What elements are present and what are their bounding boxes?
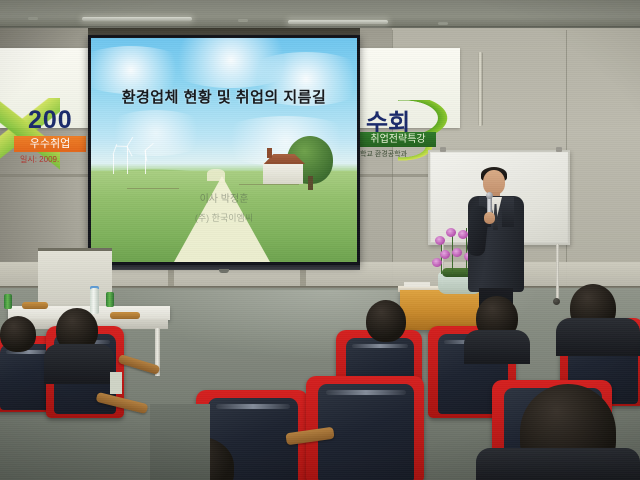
banner-green-badge: 취업전략특강 xyxy=(360,132,436,147)
ceiling-light-fixture xyxy=(288,20,388,24)
ceiling-light-fixture xyxy=(82,17,192,21)
wall-pipe xyxy=(478,52,483,126)
fence-line xyxy=(239,184,299,185)
house-chimney xyxy=(267,148,272,158)
fence-line xyxy=(127,188,179,189)
drink-can[interactable] xyxy=(4,294,12,309)
slide-title: 환경업체 현황 및 취업의 지름길 xyxy=(91,86,357,107)
orchid-bloom xyxy=(458,230,468,239)
snack-plate xyxy=(110,312,140,319)
slide-company: (주) 한국이엠씨 xyxy=(91,211,357,224)
papers-on-podium xyxy=(404,282,430,287)
microphone-head xyxy=(486,192,493,199)
audience-head xyxy=(366,300,406,342)
banner-year-text: 200 xyxy=(28,106,73,135)
slide-presenter: 이사 박정훈 xyxy=(91,190,357,205)
drink-can[interactable] xyxy=(106,292,114,307)
cloud xyxy=(101,110,211,156)
seat-highlight xyxy=(216,404,290,409)
projection-screen: 환경업체 현황 및 취업의 지름길 이사 박정훈 (주) 한국이엠씨 xyxy=(91,38,357,262)
audience-head xyxy=(0,316,36,352)
whiteboard-clip xyxy=(440,147,446,152)
whiteboard-clip xyxy=(556,147,562,152)
orchid-bloom xyxy=(440,250,450,259)
orchid-bloom xyxy=(435,236,445,245)
banner-orange-badge: 우수취업 xyxy=(14,136,86,152)
whiteboard-leg xyxy=(556,244,559,300)
water-bottle[interactable] xyxy=(90,288,99,314)
audience-shoulders xyxy=(44,344,114,384)
orchid-bloom xyxy=(452,248,462,257)
seat-highlight xyxy=(326,390,406,395)
ceiling-light-small xyxy=(438,22,448,25)
audience-shoulders-front xyxy=(476,448,640,480)
audience-shoulders xyxy=(556,318,640,356)
orchid-bloom xyxy=(432,258,442,267)
screen-pull-handle[interactable] xyxy=(219,269,229,273)
ceiling-light-small xyxy=(238,19,248,22)
banner-subline: 학교 환경공학과 xyxy=(360,149,407,159)
wind-turbine-mast xyxy=(113,154,114,174)
tree-trunk xyxy=(308,176,313,190)
wall-cabinet xyxy=(38,248,112,309)
audience-shoulders xyxy=(464,330,530,364)
speaker-lapel xyxy=(502,197,514,227)
handout-paper xyxy=(110,372,122,394)
snack-plate xyxy=(22,302,48,309)
photo-canvas: 200 우수취업 일시: 2009. 수회 취업전략특강 학교 환경공학과 xyxy=(0,0,640,480)
whiteboard-wheel xyxy=(553,298,560,305)
orchid-bloom xyxy=(446,228,456,237)
speaker-hand xyxy=(484,212,495,224)
ceiling-light-small xyxy=(28,17,38,20)
seat-highlight xyxy=(352,344,408,348)
aisle-floor xyxy=(150,404,210,480)
banner-date-text: 일시: 2009. xyxy=(20,154,59,165)
